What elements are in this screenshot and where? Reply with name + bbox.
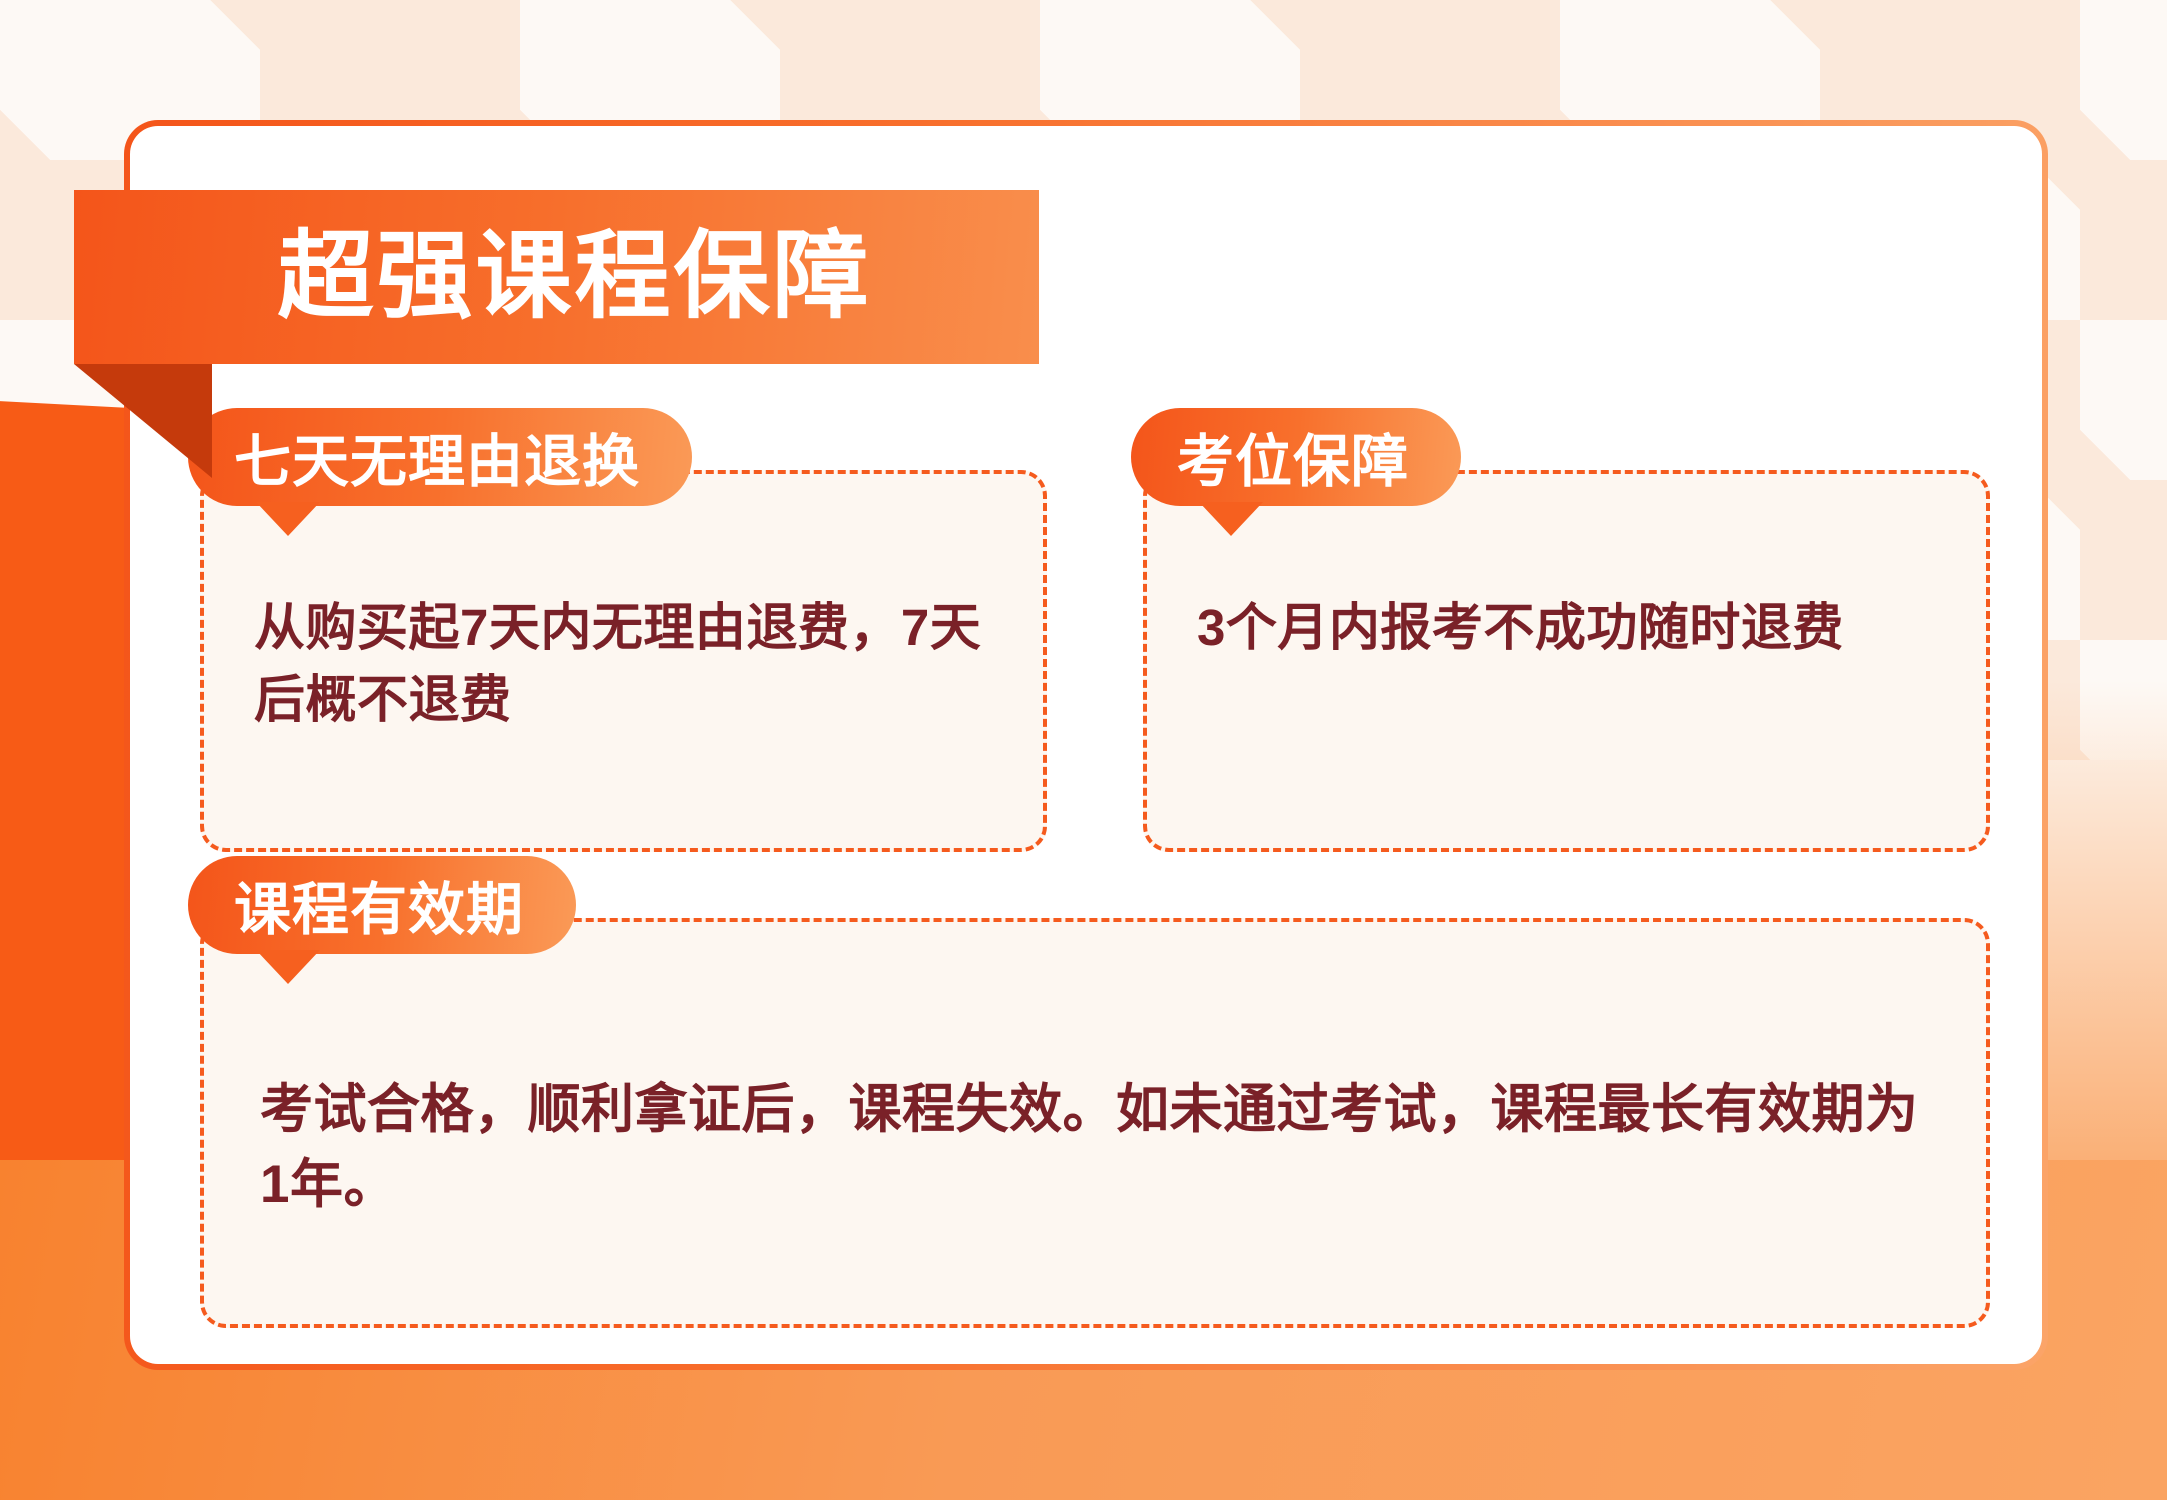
guarantee-card-refund: 七天无理由退换 从购买起7天内无理由退费，7天后概不退费 (200, 470, 1047, 852)
guarantee-card-exam-seat: 考位保障 3个月内报考不成功随时退费 (1143, 470, 1990, 852)
guarantee-card-body-validity: 考试合格，顺利拿证后，课程失效。如未通过考试，课程最长有效期为1年。 (204, 1072, 1986, 1223)
title-ribbon: 超强课程保障 (74, 190, 1039, 364)
guarantee-card-label-exam-seat: 考位保障 (1131, 408, 1461, 506)
guarantee-card-label-validity: 课程有效期 (188, 856, 576, 954)
guarantee-card-list: 七天无理由退换 从购买起7天内无理由退费，7天后概不退费 考位保障 3个月内报考… (200, 470, 1990, 1328)
guarantee-card-row-top: 七天无理由退换 从购买起7天内无理由退费，7天后概不退费 考位保障 3个月内报考… (200, 470, 1990, 852)
promo-graphic: 超强课程保障 七天无理由退换 从购买起7天内无理由退费，7天后概不退费 考位保障… (0, 0, 2167, 1500)
guarantee-card-label-refund: 七天无理由退换 (188, 408, 692, 506)
page-title: 超强课程保障 (242, 229, 872, 325)
guarantee-card-validity: 课程有效期 考试合格，顺利拿证后，课程失效。如未通过考试，课程最长有效期为1年。 (200, 918, 1990, 1328)
guarantee-card-body-refund: 从购买起7天内无理由退费，7天后概不退费 (204, 592, 1043, 737)
guarantee-card-body-exam-seat: 3个月内报考不成功随时退费 (1147, 592, 1986, 664)
